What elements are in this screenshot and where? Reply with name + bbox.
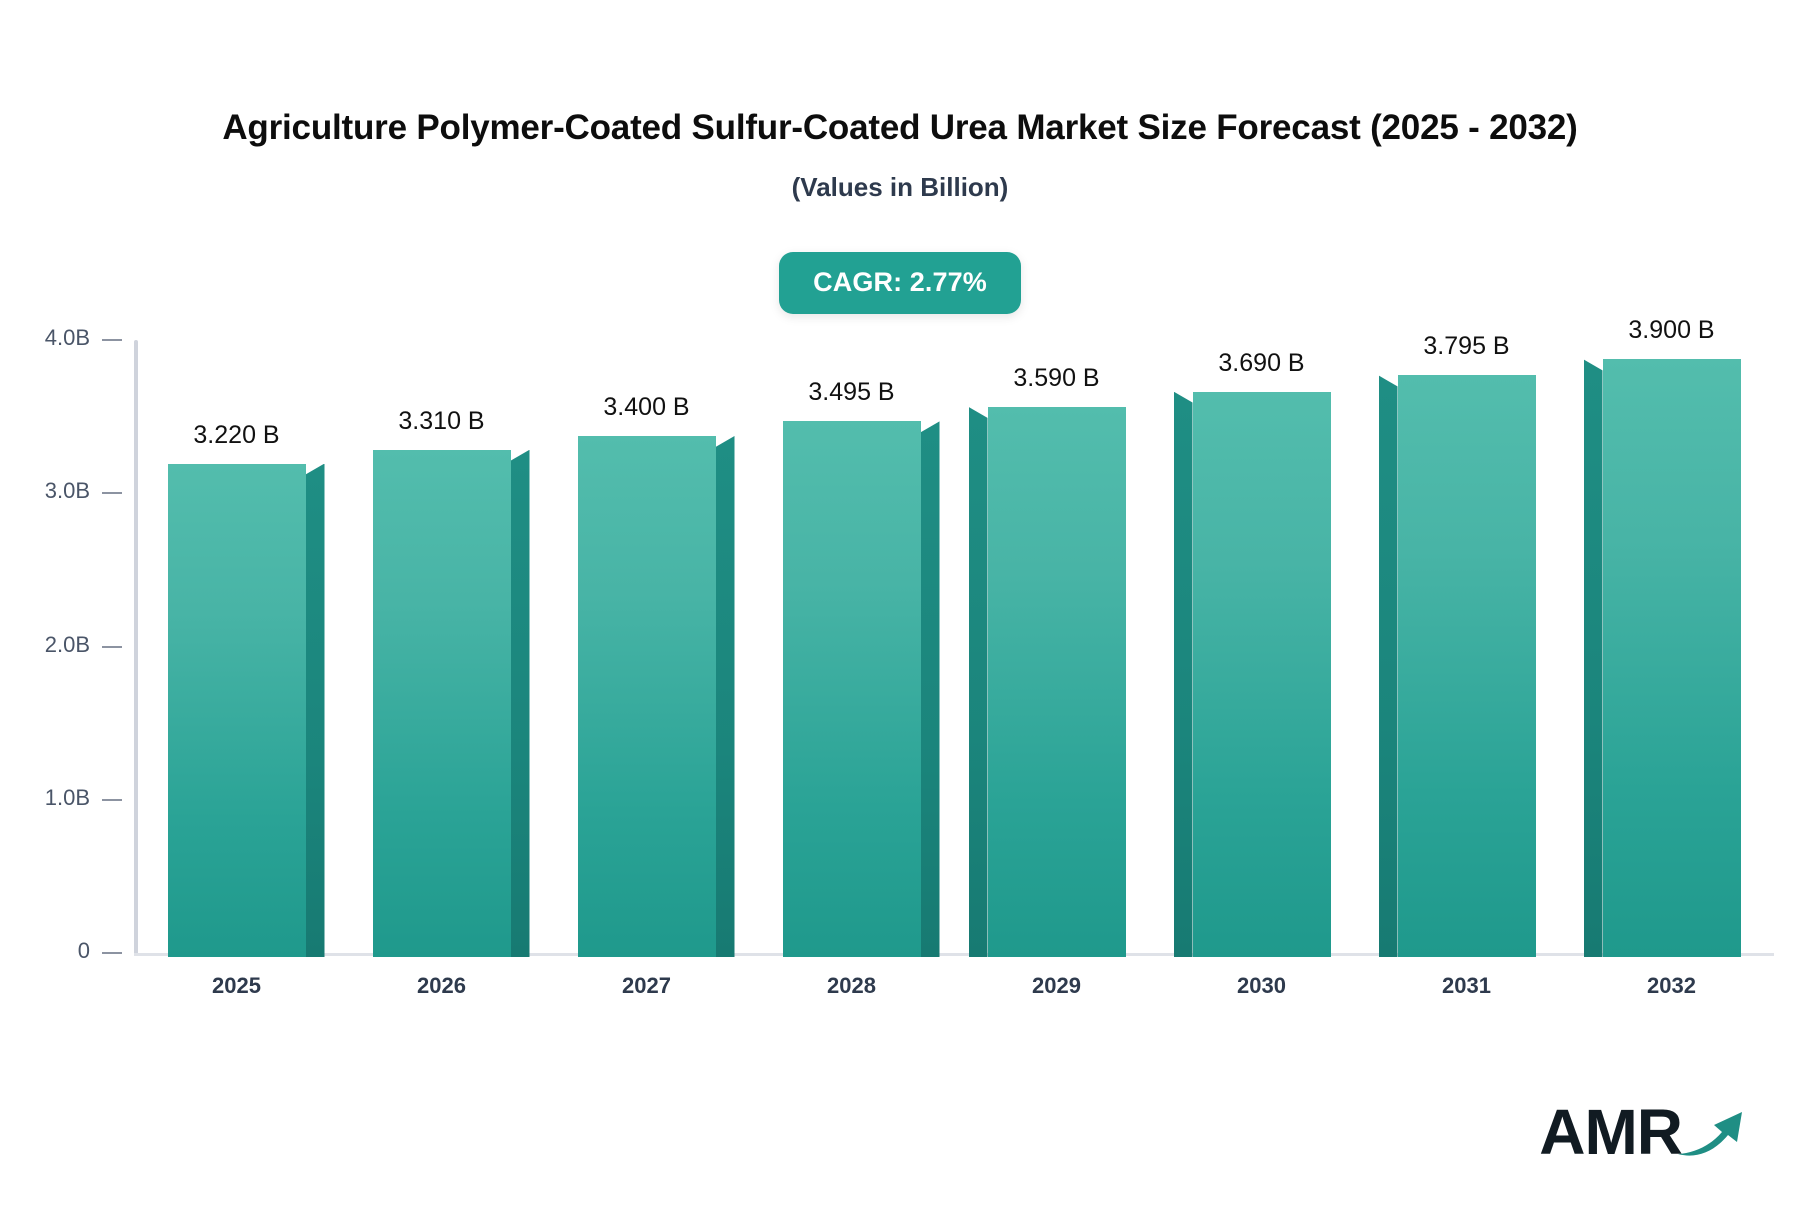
x-axis-label: 2032 bbox=[1569, 972, 1774, 1000]
x-axis-label: 2029 bbox=[954, 972, 1159, 1000]
bar-front-face bbox=[1398, 375, 1536, 957]
bar-side-face bbox=[306, 464, 325, 957]
y-axis-tick-mark bbox=[102, 952, 122, 954]
amr-logo: AMR bbox=[1539, 1086, 1748, 1164]
bar-side-face bbox=[969, 407, 988, 957]
bar-column[interactable]: 3.590 B bbox=[988, 300, 1126, 955]
bar-front-face bbox=[373, 450, 511, 957]
bar-front-face bbox=[783, 421, 921, 957]
bar-column[interactable]: 3.795 B bbox=[1398, 300, 1536, 955]
bar-column[interactable]: 3.310 B bbox=[373, 300, 511, 955]
bar-column[interactable]: 3.220 B bbox=[168, 300, 306, 955]
bar-3d-body[interactable] bbox=[168, 300, 306, 955]
bar-column[interactable]: 3.690 B bbox=[1193, 300, 1331, 955]
bar-value-label: 3.690 B bbox=[1218, 351, 1304, 376]
bar-side-face bbox=[1174, 392, 1193, 957]
y-axis-tick-label: 4.0B bbox=[45, 325, 90, 351]
y-axis-tick-mark bbox=[102, 646, 122, 648]
y-axis-tick-label: 0 bbox=[78, 938, 90, 964]
bar-front-face bbox=[1193, 392, 1331, 957]
bar-side-face bbox=[511, 450, 530, 957]
y-axis-tick-mark bbox=[102, 339, 122, 341]
bar-front-face bbox=[988, 407, 1126, 957]
y-axis-tick-label: 2.0B bbox=[45, 632, 90, 658]
y-axis-tick-mark bbox=[102, 799, 122, 801]
trend-up-arrow-icon bbox=[1676, 1106, 1748, 1160]
bar-3d-body[interactable] bbox=[1193, 300, 1331, 955]
bar-value-label: 3.900 B bbox=[1628, 318, 1714, 343]
bar-front-face bbox=[578, 436, 716, 957]
chart-plot-area: 01.0B2.0B3.0B4.0B 3.220 B3.310 B3.400 B3… bbox=[0, 0, 1800, 1212]
x-axis-label: 2031 bbox=[1364, 972, 1569, 1000]
bar-side-face bbox=[1584, 359, 1603, 957]
y-axis-tick-mark bbox=[102, 492, 122, 494]
bar-side-face bbox=[921, 421, 940, 957]
bar-side-face bbox=[716, 436, 735, 957]
x-axis-labels: 20252026202720282029203020312032 bbox=[134, 972, 1774, 1012]
bar-3d-body[interactable] bbox=[1398, 300, 1536, 955]
bar-column[interactable]: 3.900 B bbox=[1603, 300, 1741, 955]
x-axis-label: 2027 bbox=[544, 972, 749, 1000]
bar-column[interactable]: 3.400 B bbox=[578, 300, 716, 955]
amr-wordmark: AMR bbox=[1539, 1100, 1682, 1164]
x-axis-label: 2028 bbox=[749, 972, 954, 1000]
bar-value-label: 3.400 B bbox=[603, 395, 689, 420]
bar-value-label: 3.495 B bbox=[808, 380, 894, 405]
y-axis-tick-label: 1.0B bbox=[45, 785, 90, 811]
bar-3d-body[interactable] bbox=[1603, 300, 1741, 955]
bar-side-face bbox=[1379, 375, 1398, 957]
bar-3d-body[interactable] bbox=[373, 300, 511, 955]
y-axis-tick-label: 3.0B bbox=[45, 478, 90, 504]
bar-series: 3.220 B3.310 B3.400 B3.495 B3.590 B3.690… bbox=[134, 300, 1774, 955]
bar-value-label: 3.590 B bbox=[1013, 366, 1099, 391]
x-axis-label: 2026 bbox=[339, 972, 544, 1000]
x-axis-label: 2030 bbox=[1159, 972, 1364, 1000]
bar-front-face bbox=[1603, 359, 1741, 957]
x-axis-label: 2025 bbox=[134, 972, 339, 1000]
bar-value-label: 3.310 B bbox=[398, 409, 484, 434]
bar-front-face bbox=[168, 464, 306, 957]
bar-3d-body[interactable] bbox=[988, 300, 1126, 955]
bar-value-label: 3.220 B bbox=[193, 423, 279, 448]
bar-column[interactable]: 3.495 B bbox=[783, 300, 921, 955]
bar-value-label: 3.795 B bbox=[1423, 334, 1509, 359]
